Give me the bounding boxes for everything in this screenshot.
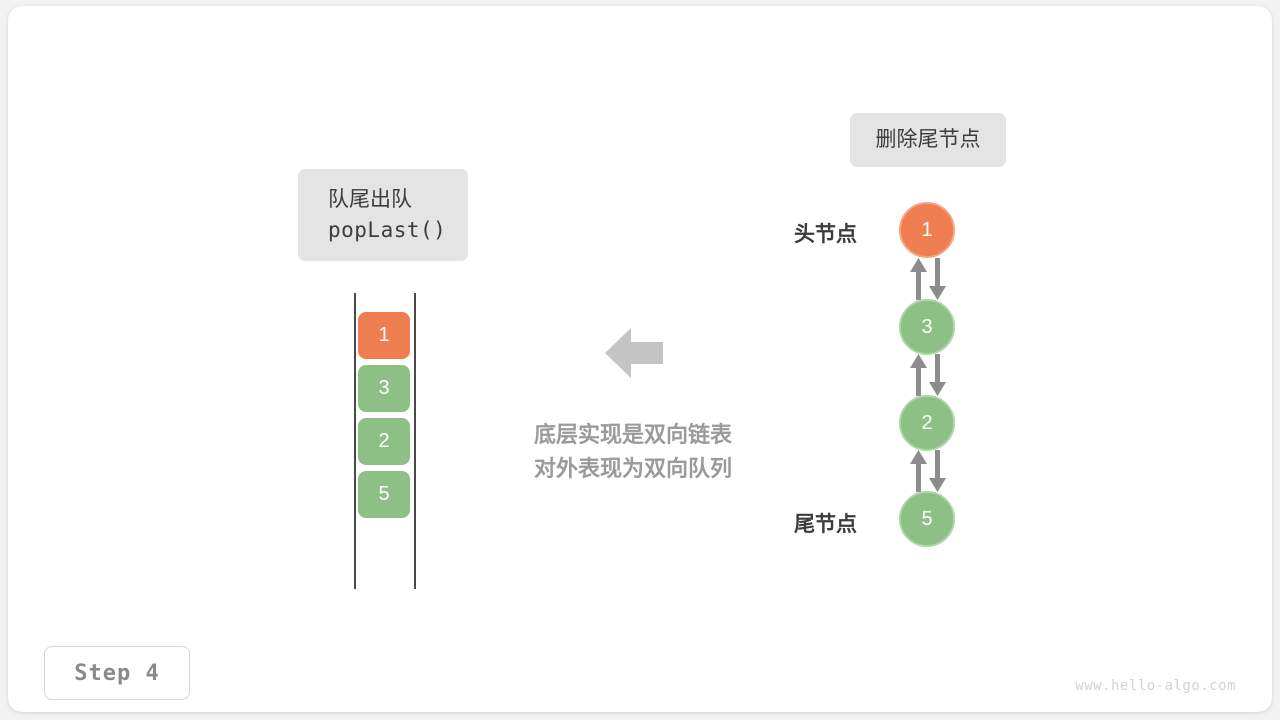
- list-node: 5: [899, 491, 955, 547]
- queue-item: 1: [358, 312, 410, 359]
- queue-item-value: 5: [378, 483, 389, 506]
- list-node-value: 2: [921, 412, 932, 435]
- queue-item: 3: [358, 365, 410, 412]
- watermark: www.hello-algo.com: [1075, 678, 1236, 694]
- step-badge: Step 4: [44, 646, 190, 700]
- slide-card: 队尾出队 popLast() 删除尾节点 1 3 2 5 底层实现是双向链表: [8, 6, 1272, 712]
- head-node-label: 头节点: [794, 218, 857, 248]
- list-node-value: 3: [921, 316, 932, 339]
- list-node-value: 1: [921, 219, 932, 242]
- queue-rail-left: [354, 293, 356, 589]
- list-node: 3: [899, 299, 955, 355]
- tail-node-label: 尾节点: [794, 508, 857, 538]
- caption-line-2: 对外表现为双向队列: [478, 452, 788, 486]
- delete-tail-label: 删除尾节点: [876, 125, 981, 155]
- queue-rail-right: [414, 293, 416, 589]
- queue-item: 5: [358, 471, 410, 518]
- list-node-value: 5: [921, 508, 932, 531]
- queue-item-value: 2: [378, 430, 389, 453]
- queue-item: 2: [358, 418, 410, 465]
- operation-label-chip: 队尾出队 popLast(): [298, 169, 468, 261]
- queue-item-value: 3: [378, 377, 389, 400]
- operation-name: 队尾出队: [328, 185, 412, 215]
- list-node: 2: [899, 395, 955, 451]
- delete-tail-label-chip: 删除尾节点: [850, 113, 1006, 167]
- operation-method: popLast(): [328, 215, 446, 245]
- list-node: 1: [899, 202, 955, 258]
- queue-item-value: 1: [378, 324, 389, 347]
- explanation-caption: 底层实现是双向链表 对外表现为双向队列: [478, 418, 788, 486]
- bidirectional-link-icon: [908, 258, 948, 300]
- bidirectional-link-icon: [908, 450, 948, 492]
- bidirectional-link-icon: [908, 354, 948, 396]
- arrow-left-icon: [605, 326, 663, 380]
- slide-canvas: 队尾出队 popLast() 删除尾节点 1 3 2 5 底层实现是双向链表: [0, 0, 1280, 720]
- caption-line-1: 底层实现是双向链表: [478, 418, 788, 452]
